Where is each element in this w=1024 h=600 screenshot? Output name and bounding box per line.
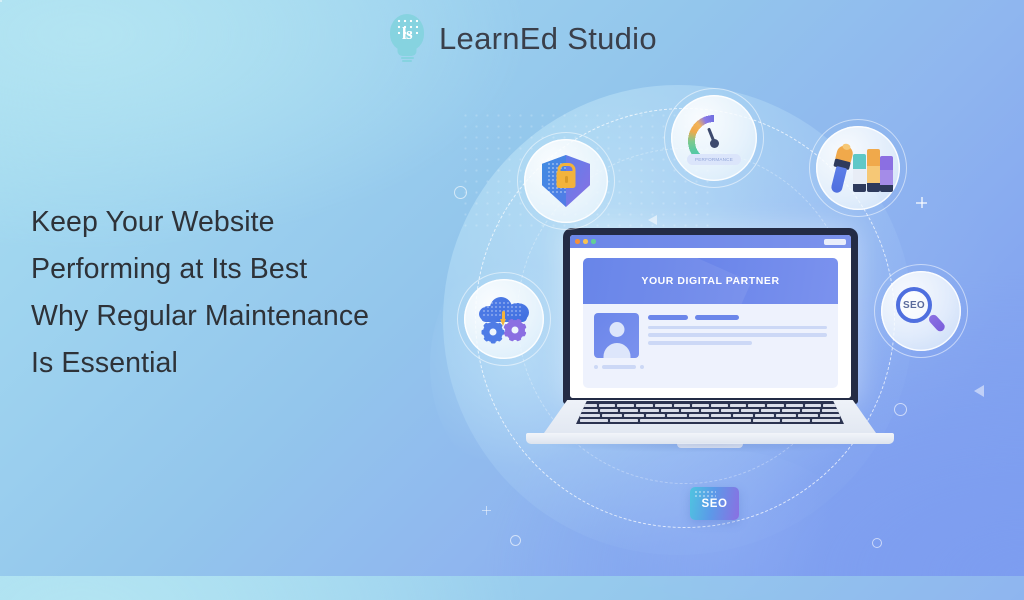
- decor-ring-icon: [0, 0, 2, 2]
- feature-icon-backup[interactable]: [464, 279, 544, 359]
- card-meta-row: [583, 358, 838, 369]
- headline-line-3: Why Regular Maintenance: [31, 293, 461, 340]
- decor-ring-icon: [454, 186, 467, 199]
- cloud-download-gears-icon: [477, 295, 531, 343]
- headline-line-4: Is Essential: [31, 340, 461, 387]
- headline-line-2: Performing at Its Best: [31, 246, 461, 293]
- decor-ring-icon: [872, 538, 882, 548]
- hero-title: YOUR DIGITAL PARTNER: [641, 275, 779, 287]
- placeholder-text-lines: [648, 313, 827, 358]
- decor-ring-icon: [510, 535, 521, 546]
- speedometer-gauge-icon: PERFORMANCE: [684, 111, 744, 165]
- laptop-keyboard: [576, 401, 844, 424]
- feature-icon-performance[interactable]: PERFORMANCE: [671, 95, 757, 181]
- logo-monogram: ls: [388, 24, 426, 44]
- website-card-body: [583, 304, 838, 358]
- shield-lock-icon: [542, 155, 590, 207]
- decor-triangle-icon: [648, 215, 657, 225]
- user-avatar-icon: [594, 313, 639, 358]
- feature-icon-design[interactable]: [816, 126, 900, 210]
- decor-plus-icon: [482, 506, 491, 515]
- feature-icon-security[interactable]: [524, 139, 608, 223]
- website-page: YOUR DIGITAL PARTNER: [570, 248, 851, 398]
- seo-magnifier-label: SEO: [903, 300, 925, 311]
- laptop-base: [520, 400, 900, 448]
- gear-icon: [505, 320, 525, 340]
- background-blob-bottom: [590, 450, 850, 600]
- laptop-illustration: YOUR DIGITAL PARTNER: [520, 228, 900, 468]
- brand-name: LearnEd Studio: [439, 21, 657, 57]
- feature-icon-seo[interactable]: SEO: [881, 271, 961, 351]
- seo-badge-label: SEO: [701, 498, 727, 510]
- close-icon[interactable]: [575, 239, 580, 244]
- seo-badge[interactable]: SEO: [690, 487, 739, 520]
- lightbulb-icon: ls: [388, 14, 426, 64]
- gauge-label: PERFORMANCE: [687, 154, 741, 165]
- brand-logo[interactable]: ls LearnEd Studio: [388, 14, 657, 64]
- decor-plus-icon: [916, 197, 927, 208]
- website-hero-banner: YOUR DIGITAL PARTNER: [583, 258, 838, 304]
- page-title: Keep Your Website Performing at Its Best…: [31, 199, 461, 387]
- paintbrush-swatches-icon: [830, 141, 886, 195]
- maximize-icon[interactable]: [591, 239, 596, 244]
- browser-titlebar: [570, 235, 851, 248]
- magnifier-seo-icon: SEO: [896, 287, 946, 335]
- laptop-lid: YOUR DIGITAL PARTNER: [563, 228, 858, 404]
- website-card: YOUR DIGITAL PARTNER: [583, 258, 838, 388]
- minimize-icon[interactable]: [583, 239, 588, 244]
- address-bar[interactable]: [824, 239, 846, 245]
- gear-icon: [483, 322, 503, 342]
- decor-triangle-icon: [974, 385, 984, 397]
- laptop-screen: YOUR DIGITAL PARTNER: [570, 235, 851, 398]
- headline-line-1: Keep Your Website: [31, 199, 461, 246]
